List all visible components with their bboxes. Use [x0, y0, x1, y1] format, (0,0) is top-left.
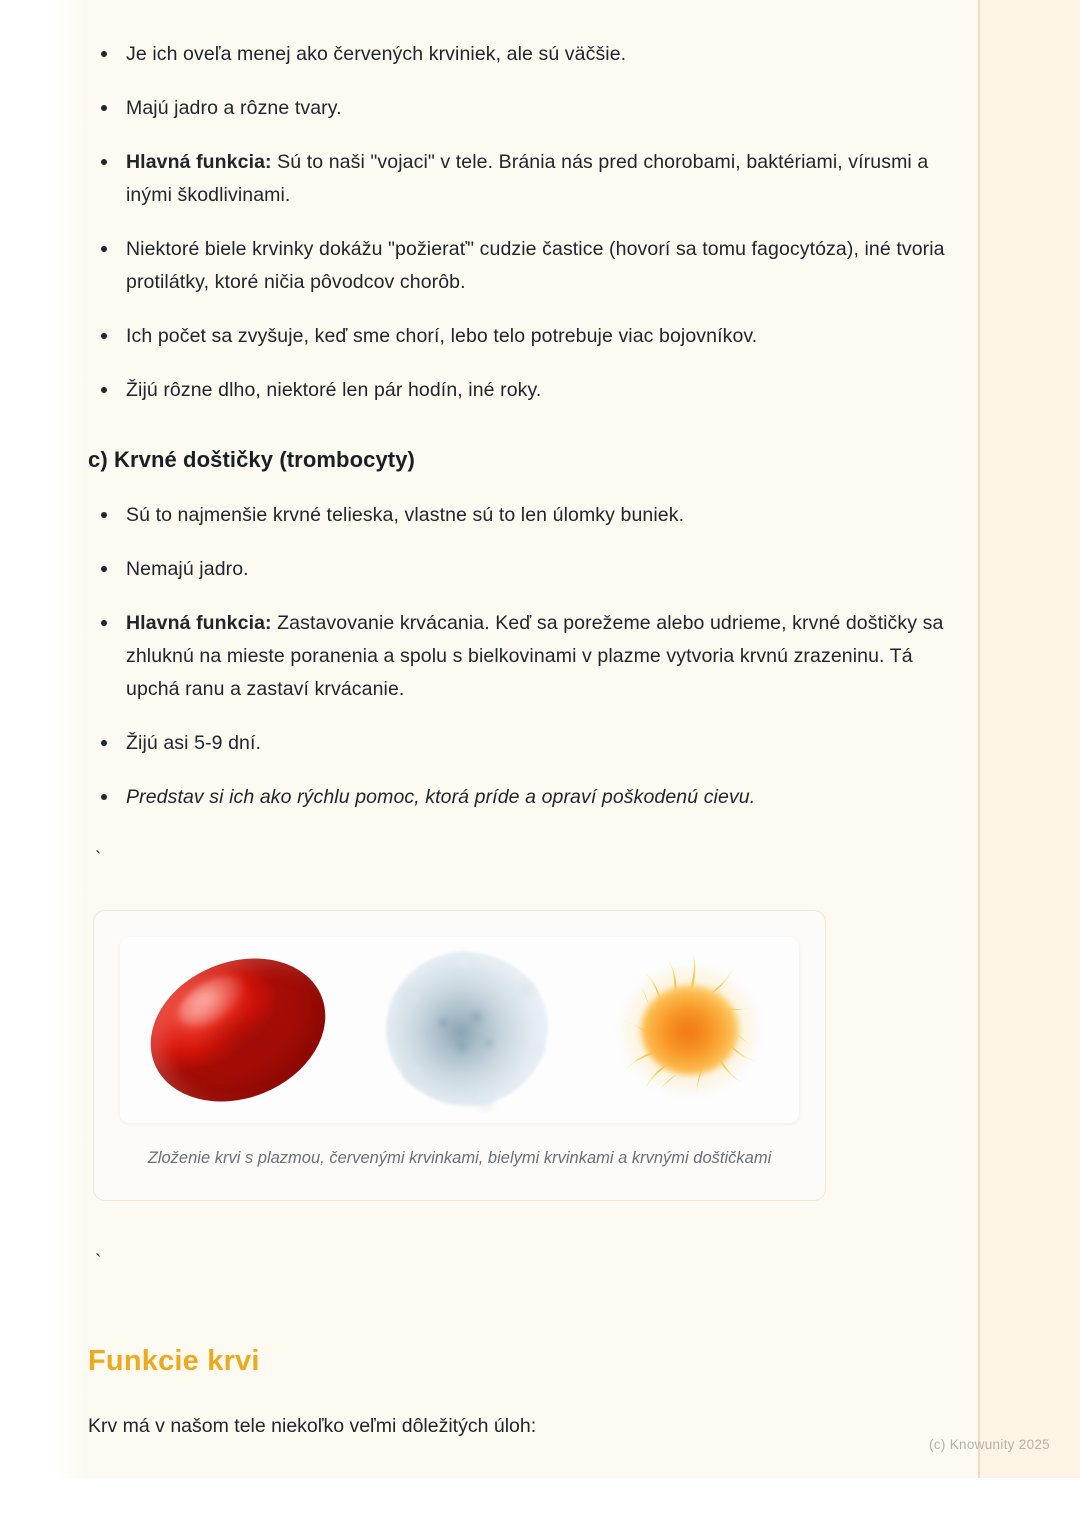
list-item: Sú to najmenšie krvné telieska, vlastne … — [88, 499, 968, 532]
functions-section-heading: Funkcie krvi — [88, 1345, 968, 1378]
list-item: Niektoré biele krvinky dokážu "požierať"… — [88, 233, 968, 299]
stray-backtick-mark-2: ` — [95, 1249, 968, 1275]
functions-lead-text: Krv má v našom tele niekoľko veľmi dôlež… — [88, 1410, 968, 1442]
platelets-bullet-list: Sú to najmenšie krvné telieska, vlastne … — [88, 499, 968, 814]
stray-backtick-mark: ` — [95, 846, 968, 872]
platelets-heading: c) Krvné doštičky (trombocyty) — [88, 447, 968, 473]
figure-card: Zloženie krvi s plazmou, červenými krvin… — [93, 910, 826, 1201]
list-item: Hlavná funkcia: Zastavovanie krvácania. … — [88, 607, 968, 706]
list-item-text: Žijú rôzne dlho, niektoré len pár hodín,… — [126, 379, 541, 401]
list-item: Transportná funkcia: Prenáša kyslík z pľ… — [121, 1474, 968, 1478]
red-blood-cell-icon — [142, 956, 334, 1104]
list-item: Nemajú jadro. — [88, 553, 968, 586]
list-item: Hlavná funkcia: Sú to naši "vojaci" v te… — [88, 146, 968, 212]
list-item: Žijú asi 5-9 dní. — [88, 727, 968, 760]
list-item: Ich počet sa zvyšuje, keď sme chorí, leb… — [88, 320, 968, 353]
list-item: Majú jadro a rôzne tvary. — [88, 92, 968, 125]
page-left-fade — [52, 0, 86, 1478]
list-item-label: Hlavná funkcia: — [126, 151, 272, 173]
list-item-text: Predstav si ich ako rýchlu pomoc, ktorá … — [126, 786, 755, 808]
white-blood-cell-nucleus — [412, 986, 516, 1078]
list-item-text: Ich počet sa zvyšuje, keď sme chorí, leb… — [126, 325, 757, 347]
list-item-text: Je ich oveľa menej ako červených krvinie… — [126, 43, 626, 65]
page-sheet: Je ich oveľa menej ako červených krvinie… — [52, 0, 1080, 1478]
platelet-body — [641, 985, 739, 1075]
list-item-text: Žijú asi 5-9 dní. — [126, 732, 261, 754]
copyright-watermark: (c) Knowunity 2025 — [929, 1437, 1050, 1452]
document-content: Je ich oveľa menej ako červených krvinie… — [88, 0, 968, 1478]
figure-caption: Zloženie krvi s plazmou, červenými krvin… — [120, 1145, 799, 1172]
list-item-text: Sú to najmenšie krvné telieska, vlastne … — [126, 504, 684, 526]
list-item-text: Niektoré biele krvinky dokážu "požierať"… — [126, 238, 945, 293]
white-blood-cells-bullet-list: Je ich oveľa menej ako červených krvinie… — [88, 38, 968, 407]
list-item-label: Hlavná funkcia: — [126, 612, 272, 634]
list-item-text: Majú jadro a rôzne tvary. — [126, 97, 342, 119]
white-blood-cell-icon — [378, 946, 556, 1114]
list-item-text: Nemajú jadro. — [126, 558, 249, 580]
list-item: Je ich oveľa menej ako červených krvinie… — [88, 38, 968, 71]
figure-image-panel — [120, 937, 799, 1123]
list-item: Žijú rôzne dlho, niektoré len pár hodín,… — [88, 374, 968, 407]
platelet-icon — [601, 947, 777, 1113]
list-item: Predstav si ich ako rýchlu pomoc, ktorá … — [88, 781, 968, 814]
functions-numbered-list: Transportná funkcia: Prenáša kyslík z pľ… — [88, 1474, 968, 1478]
page-gutter-strip — [980, 0, 1080, 1478]
